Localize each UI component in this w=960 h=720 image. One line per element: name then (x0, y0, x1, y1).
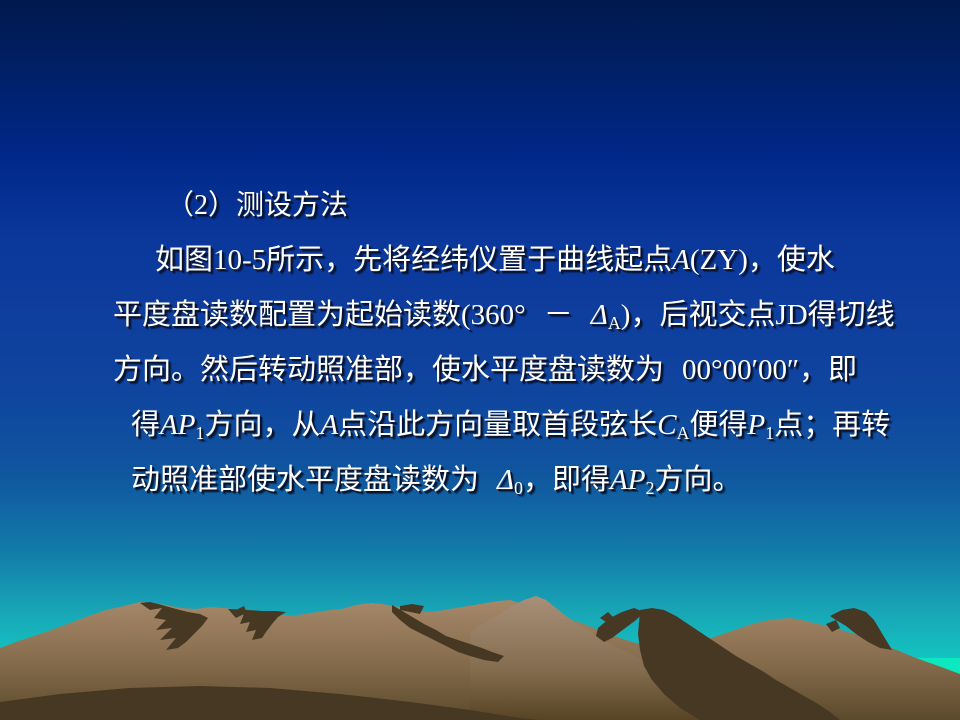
line4-tail: 点；再转 (774, 409, 890, 441)
line5-delta: Δ (497, 464, 514, 496)
line5-tail: 方向。 (654, 464, 741, 496)
line5-head: 动照准部使水平度盘读数为 (131, 464, 479, 496)
line4-head: 得 (131, 409, 160, 441)
line5-ap2: AP (610, 464, 645, 496)
line2-head: 平度盘读数配置为起始读数(360° (113, 299, 526, 331)
line4-chord-c: C (657, 409, 676, 441)
text-line-4: 得AP1方向，从A点沿此方向量取首段弦长CA便得P1点；再转 (0, 398, 960, 453)
line2-tail: )，后视交点JD得切线 (621, 299, 895, 331)
line1-head: 如图10-5所示，先将经纬仪置于曲线起点 (155, 244, 672, 276)
text-line-heading: （2）测设方法 (0, 178, 960, 233)
mountain-range-graphic (0, 590, 960, 720)
line1-zy: (ZY) (690, 244, 748, 276)
line4-point-p: P (748, 409, 766, 441)
line3-tail: ，即 (799, 354, 857, 386)
line5-delta-subscript: 0 (514, 478, 523, 498)
line3-head: 方向。然后转动照准部，使水平度盘读数为 (113, 354, 664, 386)
line4-ap1: AP (160, 409, 195, 441)
line4-symbol-a: A (320, 409, 338, 441)
slide-body-text: （2）测设方法 如图10-5所示，先将经纬仪置于曲线起点A(ZY)，使水 平度盘… (0, 178, 960, 508)
line3-angle-reading: 00°00′00″ (682, 354, 799, 386)
line4-mid3: 便得 (690, 409, 748, 441)
line4-chord-subscript: A (677, 423, 690, 443)
line5-mid: ，即得 (523, 464, 610, 496)
text-line-2: 平度盘读数配置为起始读数(360°－ΔA)，后视交点JD得切线 (0, 288, 960, 343)
text-line-5: 动照准部使水平度盘读数为Δ0，即得AP2方向。 (0, 453, 960, 508)
text-line-3: 方向。然后转动照准部，使水平度盘读数为00°00′00″，即 (0, 343, 960, 398)
line4-point-subscript: 1 (765, 423, 774, 443)
line2-minus: － (544, 299, 573, 331)
line1-tail: ，使水 (748, 244, 835, 276)
line1-symbol-a: A (672, 244, 690, 276)
heading-label: （2）测设方法 (166, 190, 348, 221)
slide-canvas: （2）测设方法 如图10-5所示，先将经纬仪置于曲线起点A(ZY)，使水 平度盘… (0, 0, 960, 720)
line4-mid2: 点沿此方向量取首段弦长 (338, 409, 657, 441)
text-line-1: 如图10-5所示，先将经纬仪置于曲线起点A(ZY)，使水 (0, 233, 960, 288)
line4-mid: 方向，从 (204, 409, 320, 441)
line2-delta: Δ (591, 299, 608, 331)
line2-delta-subscript: A (608, 313, 621, 333)
